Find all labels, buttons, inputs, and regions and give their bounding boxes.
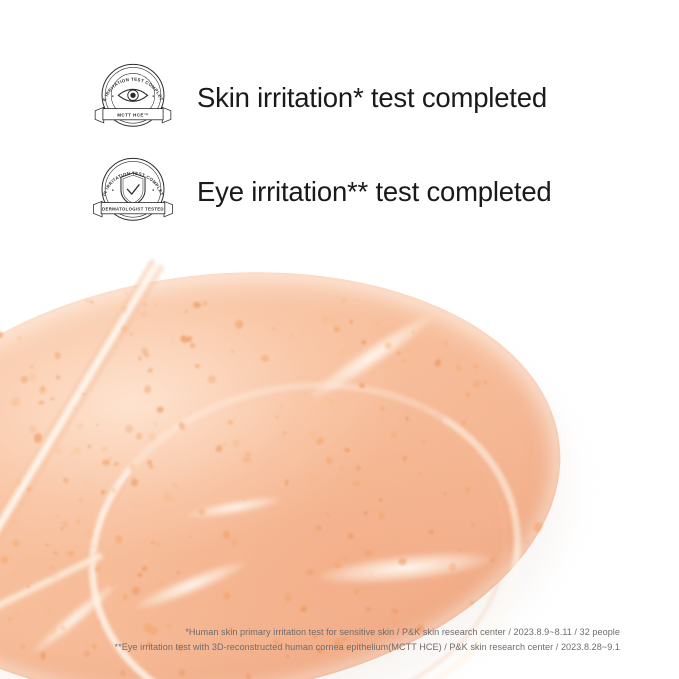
gel-speck bbox=[50, 565, 54, 569]
derm-badge-ribbon-text: DERMATOLOGIST TESTED bbox=[102, 206, 164, 211]
gel-speck bbox=[130, 332, 132, 335]
footnote-eye-test: **Eye irritation test with 3D-reconstruc… bbox=[0, 640, 620, 655]
gel-speck bbox=[56, 447, 62, 454]
gel-speck bbox=[392, 620, 396, 623]
gel-speck bbox=[290, 334, 293, 337]
gel-speck bbox=[384, 473, 389, 478]
gel-speck bbox=[471, 522, 475, 527]
svg-text:EYE IRRITATION TEST COMPLETED: EYE IRRITATION TEST COMPLETED bbox=[90, 54, 164, 102]
gel-speck bbox=[148, 465, 153, 469]
gel-speck bbox=[8, 617, 13, 621]
gel-speck bbox=[90, 300, 93, 303]
eye-badge-ribbon: MCTT HCE™ bbox=[95, 107, 171, 122]
shield-check-icon bbox=[121, 173, 145, 206]
gel-speck bbox=[419, 407, 422, 410]
eye-icon bbox=[118, 89, 147, 101]
gel-speck bbox=[444, 492, 448, 495]
gel-speck bbox=[525, 539, 529, 543]
gel-speck bbox=[11, 540, 19, 547]
skin-irritation-headline: Skin irritation* test completed bbox=[197, 82, 547, 114]
gel-speck bbox=[189, 411, 192, 414]
dermatologist-tested-badge: SKIN IRRITATION TEST COMPLETED DERMATOLO… bbox=[90, 148, 176, 234]
gel-speck bbox=[67, 550, 74, 556]
footnote-skin-test: *Human skin primary irritation test for … bbox=[0, 625, 620, 640]
eye-irritation-headline: Eye irritation** test completed bbox=[197, 176, 552, 208]
eye-irritation-badge: EYE IRRITATION TEST COMPLETED MCTT HCE™ bbox=[90, 54, 176, 140]
eye-badge-ribbon-text: MCTT HCE™ bbox=[117, 112, 149, 117]
gel-speck bbox=[109, 457, 112, 459]
peach-gel-texture-swatch bbox=[0, 255, 679, 679]
gel-speck bbox=[422, 440, 425, 443]
gel-speck bbox=[154, 422, 157, 425]
gel-speck bbox=[71, 406, 75, 409]
gel-speck bbox=[208, 375, 216, 383]
gel-speck bbox=[114, 607, 119, 615]
gel-speck bbox=[85, 529, 94, 537]
footnotes: *Human skin primary irritation test for … bbox=[0, 625, 620, 655]
derm-badge-ribbon: DERMATOLOGIST TESTED bbox=[93, 201, 172, 216]
gel-speck bbox=[193, 302, 201, 308]
gel-speck bbox=[222, 591, 231, 600]
product-claim-panel: EYE IRRITATION TEST COMPLETED MCTT HCE™ bbox=[0, 0, 679, 679]
gel-speck bbox=[390, 431, 397, 437]
eye-badge-arc-text: EYE IRRITATION TEST COMPLETED bbox=[90, 54, 164, 102]
gel-speck bbox=[111, 583, 114, 586]
gel-speck bbox=[354, 588, 359, 594]
gel-speck bbox=[154, 303, 158, 307]
gel-speck bbox=[309, 395, 315, 400]
